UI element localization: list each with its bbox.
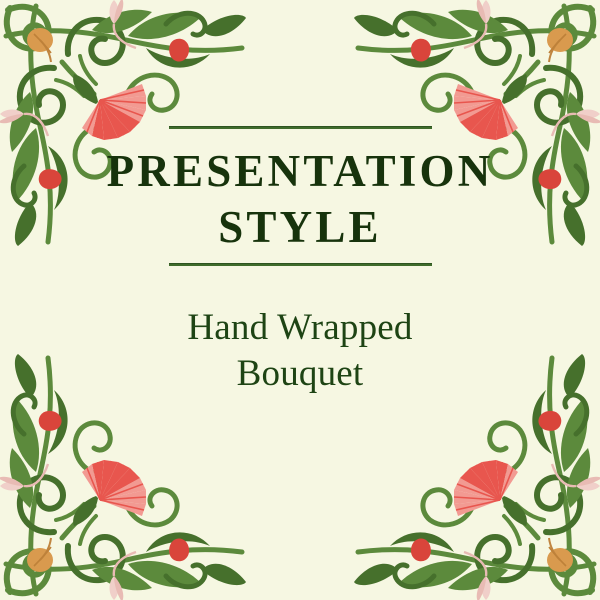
page-title-line-1: PRESENTATION (107, 146, 494, 196)
pink-bud-icon (0, 464, 136, 600)
orange-berry-icon (27, 538, 53, 572)
orange-berry-icon (547, 28, 573, 62)
pink-bud-icon (0, 0, 136, 136)
pink-bud-icon (464, 0, 600, 136)
orange-berry-icon (547, 538, 573, 572)
title-block: PRESENTATION STYLE (0, 126, 600, 266)
red-berry-icon (411, 411, 561, 561)
poster-canvas: PRESENTATION STYLE Hand Wrapped Bouquet (0, 0, 600, 600)
page-subtitle-line-2: Bouquet (0, 351, 600, 397)
page-title-line-2: STYLE (107, 199, 494, 255)
pink-bud-icon (464, 464, 600, 600)
page-subtitle: Hand Wrapped Bouquet (0, 305, 600, 397)
red-flower-icon (73, 460, 146, 526)
page-subtitle-line-1: Hand Wrapped (0, 305, 600, 351)
red-berry-icon (39, 411, 189, 561)
divider-rule-bottom (169, 263, 432, 266)
page-title: PRESENTATION STYLE (107, 143, 494, 255)
divider-rule-top (169, 126, 432, 129)
orange-berry-icon (27, 28, 53, 62)
red-flower-icon (454, 460, 527, 526)
